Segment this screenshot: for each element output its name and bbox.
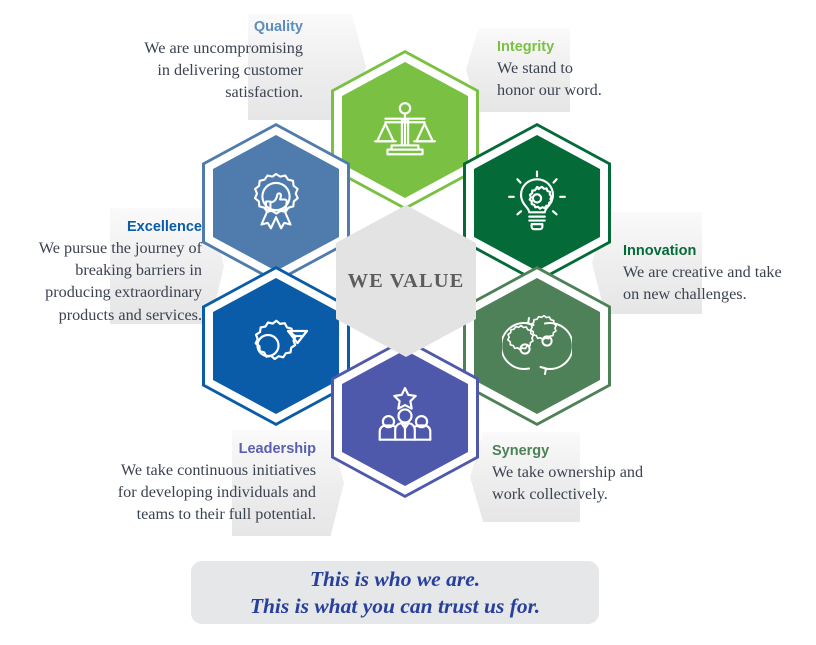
- hex-leadership[interactable]: [331, 338, 479, 498]
- value-desc-innovation: We are creative and take on new challeng…: [623, 261, 816, 305]
- interlocking-gears-icon: [502, 315, 572, 377]
- tagline-line-2: This is what you can trust us for.: [250, 593, 540, 620]
- hex-integrity[interactable]: [331, 50, 479, 210]
- tagline-banner: This is who we are. This is what you can…: [191, 561, 599, 624]
- scales-of-justice-icon: [372, 97, 438, 163]
- we-value-infographic: WE VALUE Quality We are uncompromising i…: [0, 0, 816, 645]
- hex-innovation[interactable]: [463, 123, 611, 283]
- value-title-excellence: Excellence: [8, 219, 202, 236]
- value-text-synergy: Synergy We take ownership and work colle…: [492, 443, 707, 505]
- hex-quality[interactable]: [202, 123, 350, 283]
- value-desc-synergy: We take ownership and work collectively.: [492, 461, 707, 505]
- center-label: WE VALUE: [348, 270, 465, 293]
- value-desc-quality: We are uncompromising in delivering cust…: [60, 37, 303, 104]
- lightbulb-gear-icon: [504, 170, 570, 236]
- value-text-innovation: Innovation We are creative and take on n…: [623, 243, 816, 305]
- gear-diamond-icon: [242, 314, 310, 378]
- value-text-quality: Quality We are uncompromising in deliver…: [60, 19, 303, 104]
- value-desc-excellence: We pursue the journey of breaking barrie…: [8, 237, 202, 326]
- value-title-innovation: Innovation: [623, 243, 816, 260]
- hex-synergy[interactable]: [463, 266, 611, 426]
- value-title-synergy: Synergy: [492, 443, 707, 460]
- value-desc-integrity: We stand to honor our word.: [497, 57, 727, 101]
- value-text-leadership: Leadership We take continuous initiative…: [64, 441, 316, 526]
- center-hexagon: WE VALUE: [336, 205, 476, 357]
- value-desc-leadership: We take continuous initiatives for devel…: [64, 459, 316, 526]
- award-thumbs-up-icon: [244, 170, 308, 236]
- value-title-integrity: Integrity: [497, 39, 727, 56]
- team-star-icon: [371, 386, 439, 450]
- value-title-quality: Quality: [60, 19, 303, 36]
- hex-excellence[interactable]: [202, 266, 350, 426]
- value-text-integrity: Integrity We stand to honor our word.: [497, 39, 727, 101]
- value-text-excellence: Excellence We pursue the journey of brea…: [8, 219, 202, 326]
- tagline-line-1: This is who we are.: [310, 566, 480, 593]
- value-title-leadership: Leadership: [64, 441, 316, 458]
